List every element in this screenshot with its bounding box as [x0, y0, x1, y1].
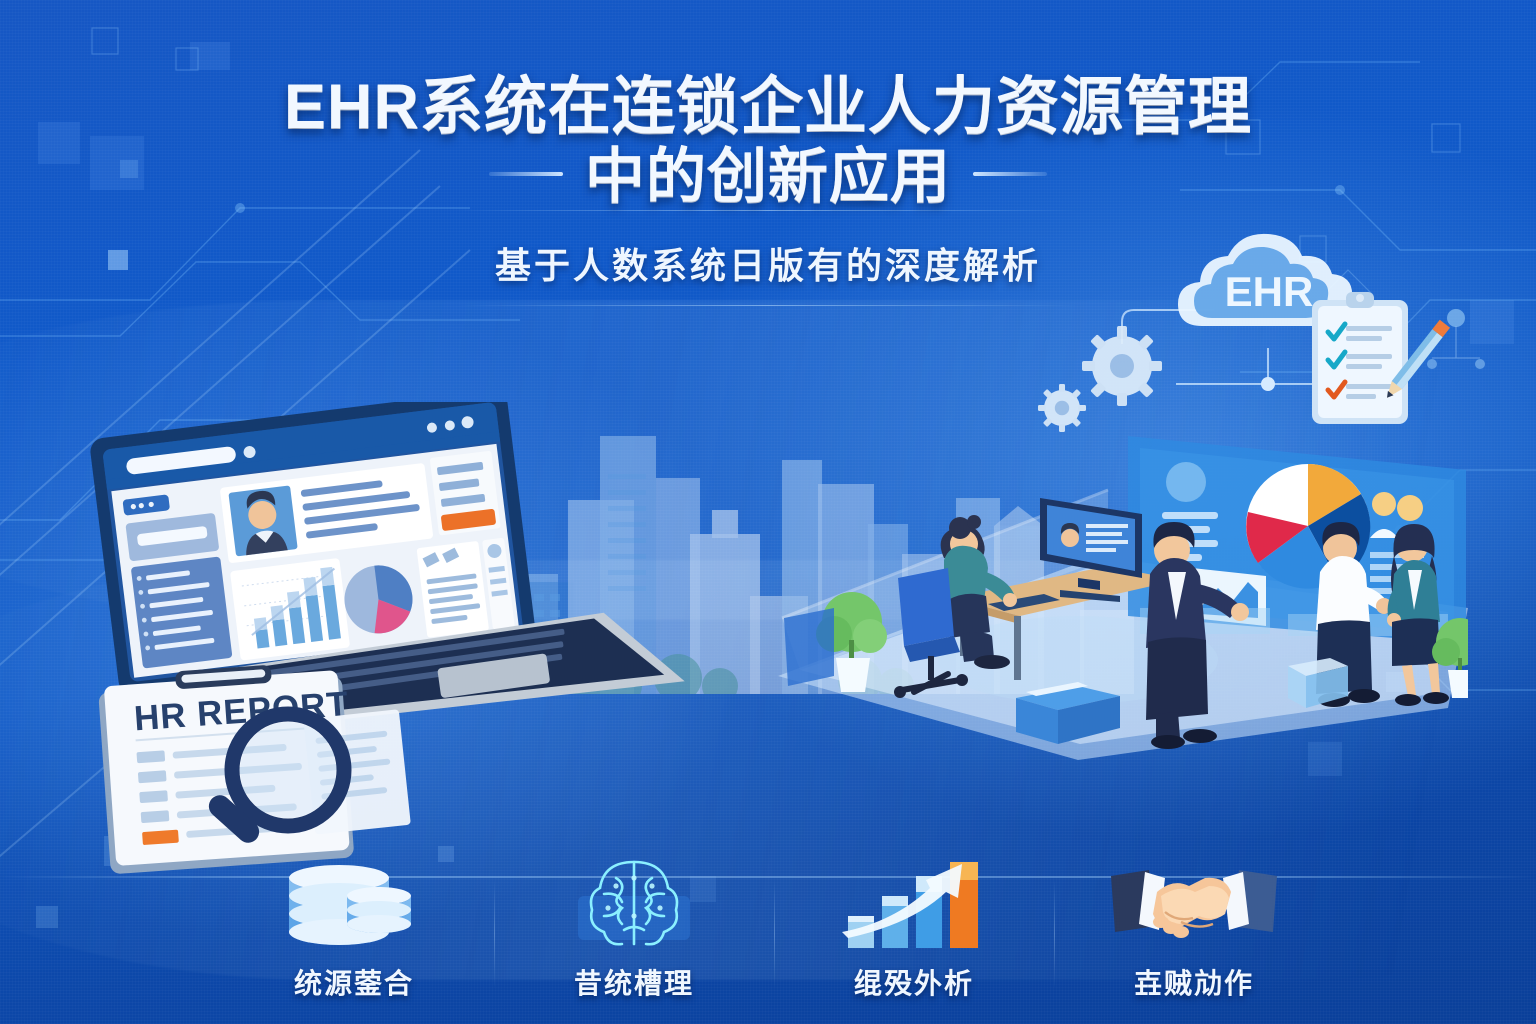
- poster-canvas: EHR系统在连锁企业人力资源管理 中的创新应用 基于人数系统日版有的深度解析: [0, 0, 1536, 1024]
- feature-row: 统源蓥合: [214, 842, 1334, 1002]
- feature-item-performance-analysis[interactable]: 绲殁外析: [774, 854, 1054, 1002]
- deco-square: [36, 906, 58, 928]
- cloud-label: EHR: [1225, 268, 1314, 315]
- title-divider: 中的创新应用: [0, 139, 1536, 210]
- subtitle-rule-bottom: [458, 305, 1078, 306]
- title-divider-right: [973, 172, 1047, 176]
- feature-label: 壵贼劥作: [1054, 962, 1334, 1002]
- feature-label: 昔统槽理: [494, 962, 774, 1002]
- feature-label: 统源蓥合: [214, 962, 494, 1002]
- feature-item-smart-management[interactable]: 昔统槽理: [494, 854, 774, 1002]
- feature-label: 绲殁外析: [774, 962, 1054, 1002]
- clipboard-checklist-icon: [1312, 292, 1450, 424]
- title-divider-left: [489, 172, 563, 176]
- page-title-line-1: EHR系统在连锁企业人力资源管理: [0, 72, 1536, 143]
- growth-bar-chart-icon: [774, 854, 1054, 950]
- feature-item-data-integration[interactable]: 统源蓥合: [214, 854, 494, 1002]
- page-title-line-2: 中的创新应用: [585, 143, 951, 210]
- brain-ai-icon: [494, 854, 774, 950]
- feature-item-team-collaboration[interactable]: 壵贼劥作: [1054, 854, 1334, 1002]
- office-scene-illustration: [748, 408, 1468, 768]
- deco-square: [190, 42, 230, 70]
- handshake-icon: [1054, 854, 1334, 950]
- database-stack-icon: [214, 854, 494, 950]
